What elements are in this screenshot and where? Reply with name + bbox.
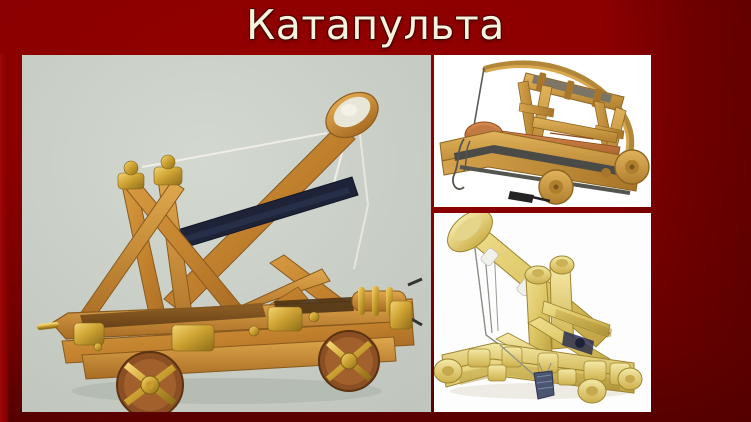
left-accent-stripe <box>0 54 8 422</box>
catapult-drawing-illustration <box>434 55 651 207</box>
slide-title: Катапульта <box>0 0 751 52</box>
catapult-model-illustration <box>22 55 431 412</box>
siege-catapult-illustration <box>434 213 651 412</box>
image-siege-catapult-model-photo[interactable] <box>434 213 651 412</box>
image-catapult-illustration-drawing[interactable] <box>434 55 651 207</box>
presentation-slide: Катапульта <box>0 0 751 422</box>
image-wooden-catapult-model-photo[interactable] <box>22 55 431 412</box>
